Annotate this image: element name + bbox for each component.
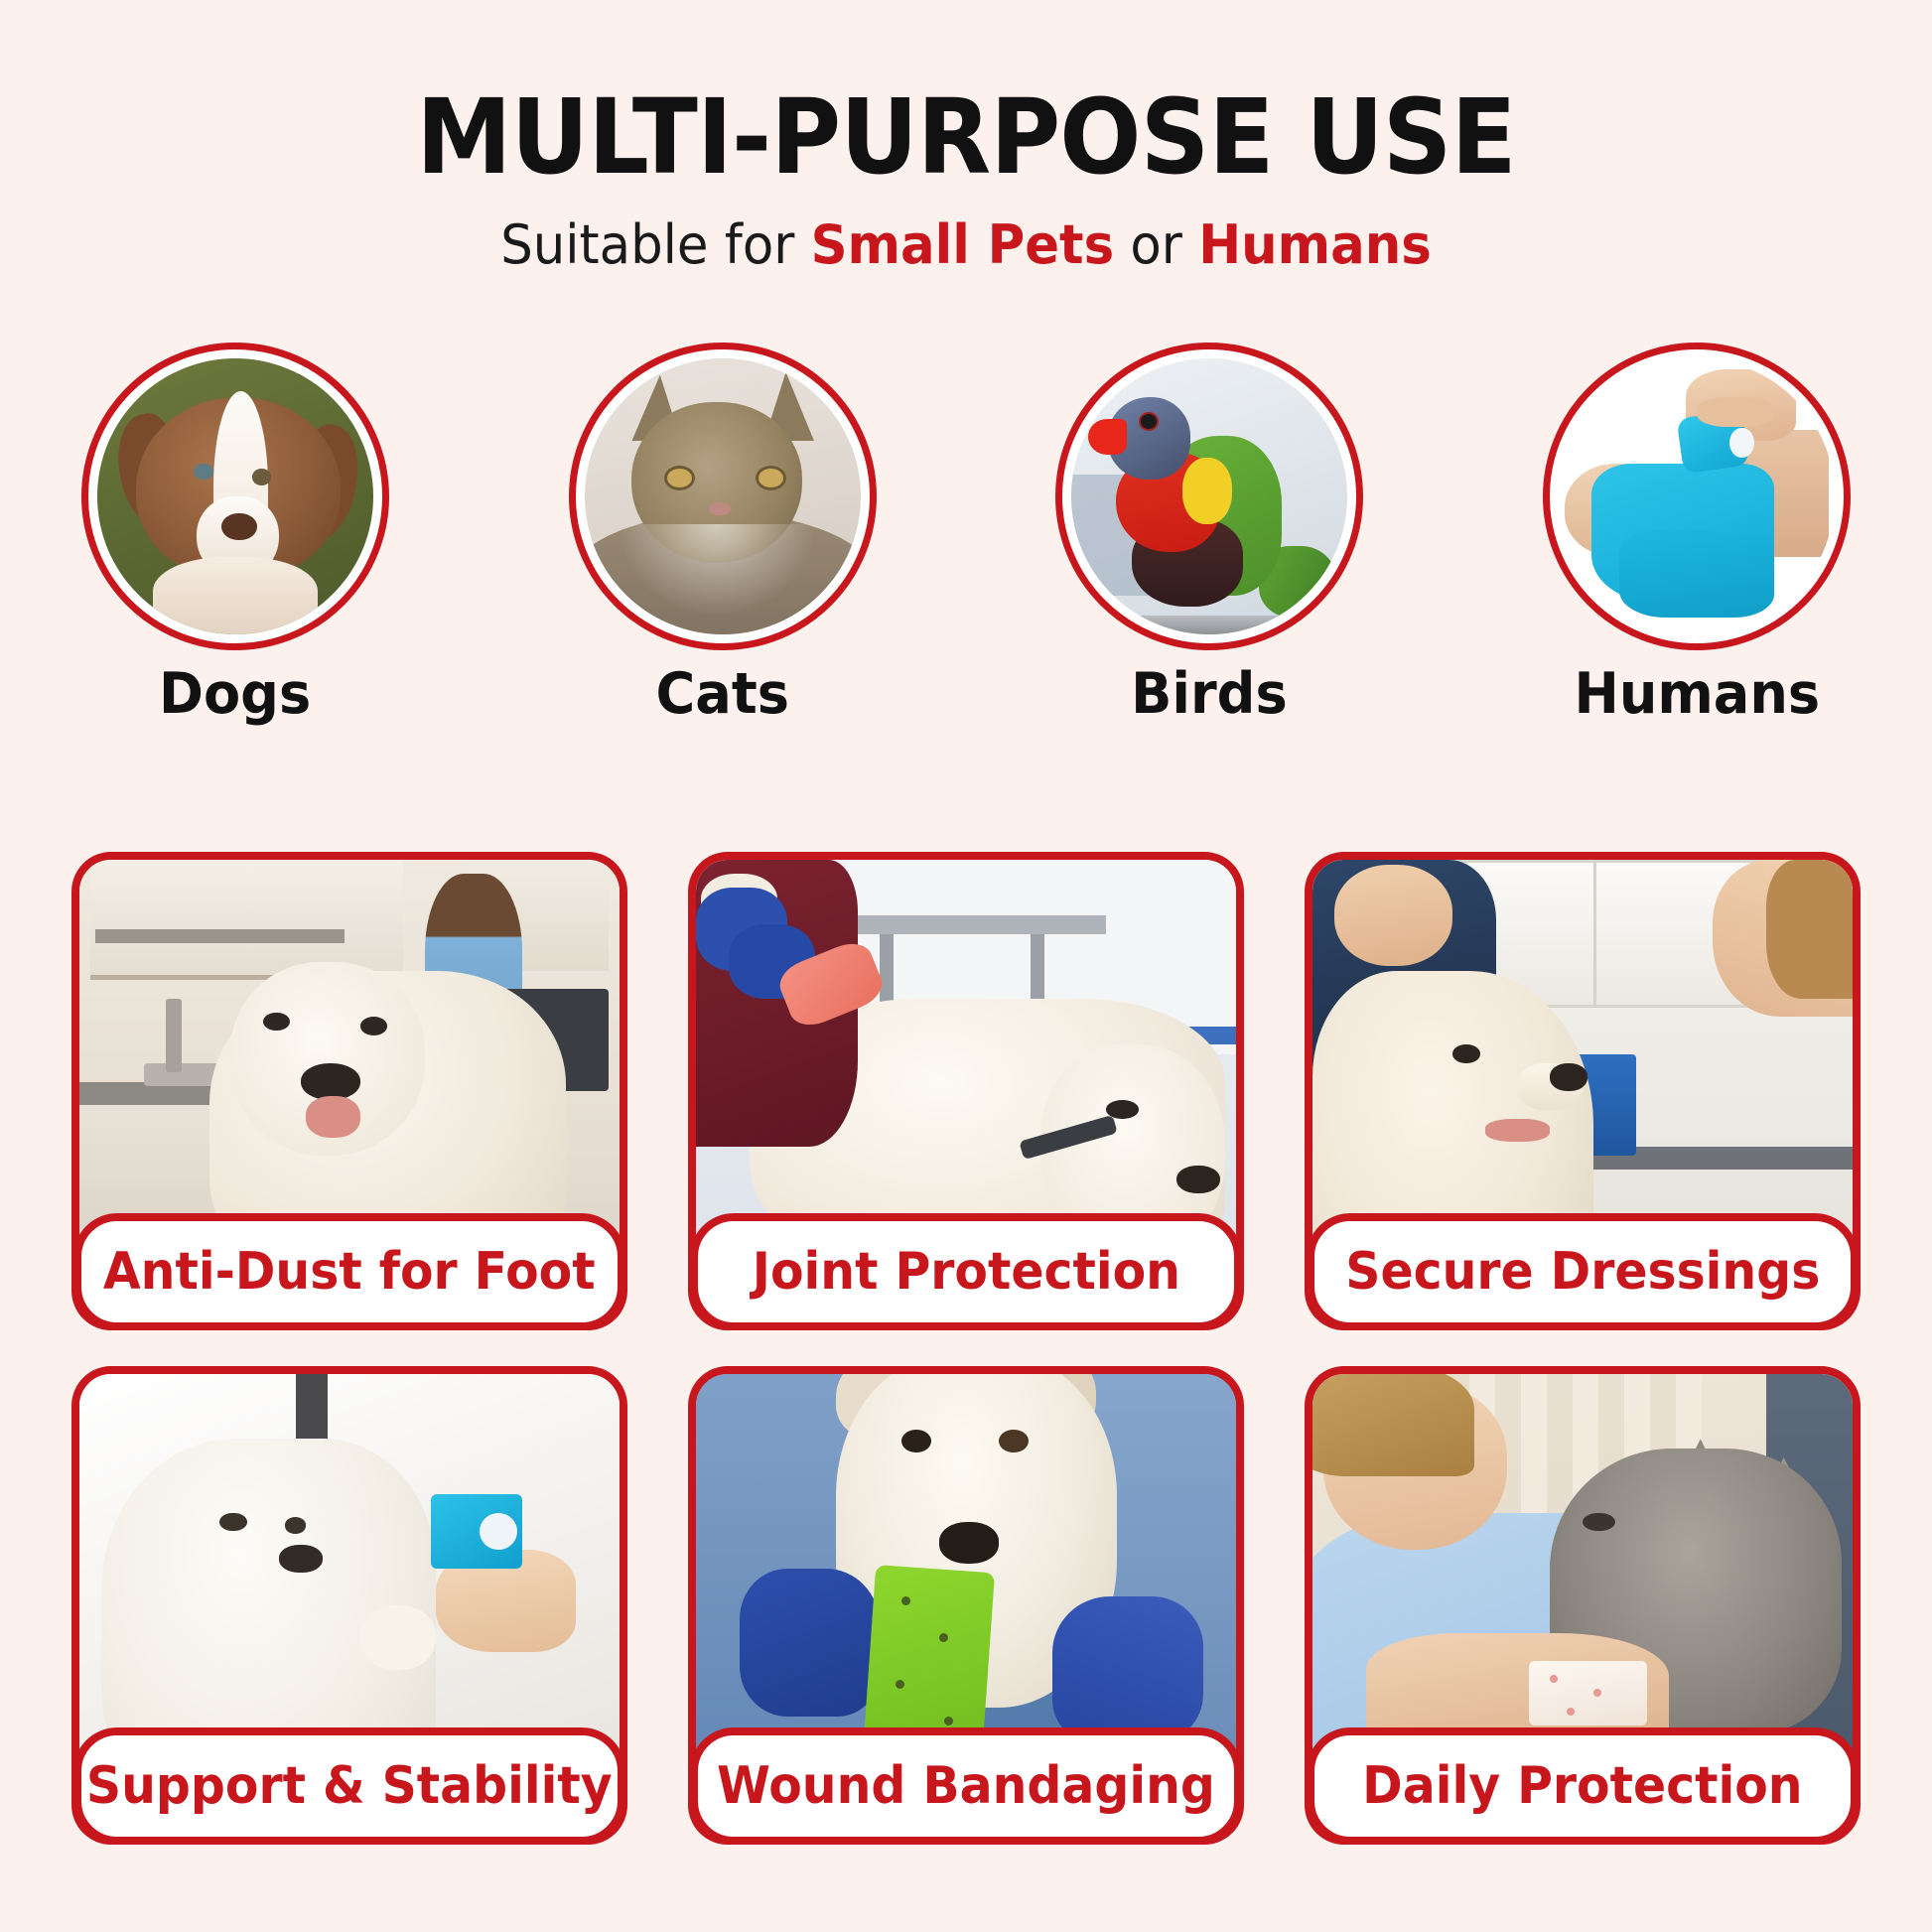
audience-label-dogs: Dogs: [159, 666, 311, 723]
photo-dogs: [97, 358, 373, 634]
header: MULTI-PURPOSE USE Suitable for Small Pet…: [0, 0, 1932, 272]
circle-frame-cats: [569, 343, 877, 650]
feature-label-daily-protection: Daily Protection: [1362, 1760, 1802, 1812]
audience-circle-dogs[interactable]: Dogs: [71, 343, 399, 723]
circle-frame-birds: [1055, 343, 1363, 650]
audience-circle-cats[interactable]: Cats: [559, 343, 887, 723]
feature-card-wound-bandaging[interactable]: Wound Bandaging: [688, 1366, 1244, 1845]
subtitle-highlight-humans: Humans: [1198, 213, 1432, 276]
feature-card-support-and-stability[interactable]: Support & Stability: [71, 1366, 627, 1845]
page-subtitle: Suitable for Small Pets or Humans: [49, 218, 1884, 272]
feature-card-grid: Anti-Dust for Foot Joint Protection: [71, 852, 1861, 1845]
page-title: MULTI-PURPOSE USE: [68, 85, 1864, 189]
audience-circle-row: Dogs Cats: [71, 343, 1861, 723]
photo-humans: [1559, 358, 1835, 634]
feature-card-joint-protection[interactable]: Joint Protection: [688, 852, 1244, 1330]
feature-label-secure-dressings: Secure Dressings: [1345, 1246, 1820, 1298]
feature-label-wound-bandaging: Wound Bandaging: [717, 1760, 1215, 1812]
feature-card-anti-dust-for-foot[interactable]: Anti-Dust for Foot: [71, 852, 627, 1330]
feature-label-pill-4: Support & Stability: [73, 1727, 625, 1845]
photo-cats: [585, 358, 861, 634]
feature-label-pill-6: Daily Protection: [1307, 1727, 1859, 1845]
circle-frame-dogs: [81, 343, 389, 650]
audience-circle-birds[interactable]: Birds: [1045, 343, 1373, 723]
feature-label-pill-1: Anti-Dust for Foot: [73, 1213, 625, 1330]
feature-card-daily-protection[interactable]: Daily Protection: [1305, 1366, 1861, 1845]
feature-label-pill-2: Joint Protection: [690, 1213, 1242, 1330]
circle-frame-humans: [1543, 343, 1851, 650]
subtitle-highlight-small-pets: Small Pets: [811, 213, 1114, 276]
subtitle-middle: or: [1114, 213, 1198, 276]
feature-label-anti-dust-for-foot: Anti-Dust for Foot: [103, 1246, 596, 1298]
feature-label-joint-protection: Joint Protection: [752, 1246, 1179, 1298]
audience-label-cats: Cats: [655, 666, 788, 723]
audience-label-humans: Humans: [1574, 666, 1820, 723]
audience-label-birds: Birds: [1132, 666, 1289, 723]
feature-card-secure-dressings[interactable]: Secure Dressings: [1305, 852, 1861, 1330]
feature-label-pill-5: Wound Bandaging: [690, 1727, 1242, 1845]
feature-label-support-and-stability: Support & Stability: [86, 1760, 613, 1812]
feature-label-pill-3: Secure Dressings: [1307, 1213, 1859, 1330]
photo-birds: [1071, 358, 1347, 634]
subtitle-prefix: Suitable for: [500, 213, 810, 276]
audience-circle-humans[interactable]: Humans: [1533, 343, 1861, 723]
